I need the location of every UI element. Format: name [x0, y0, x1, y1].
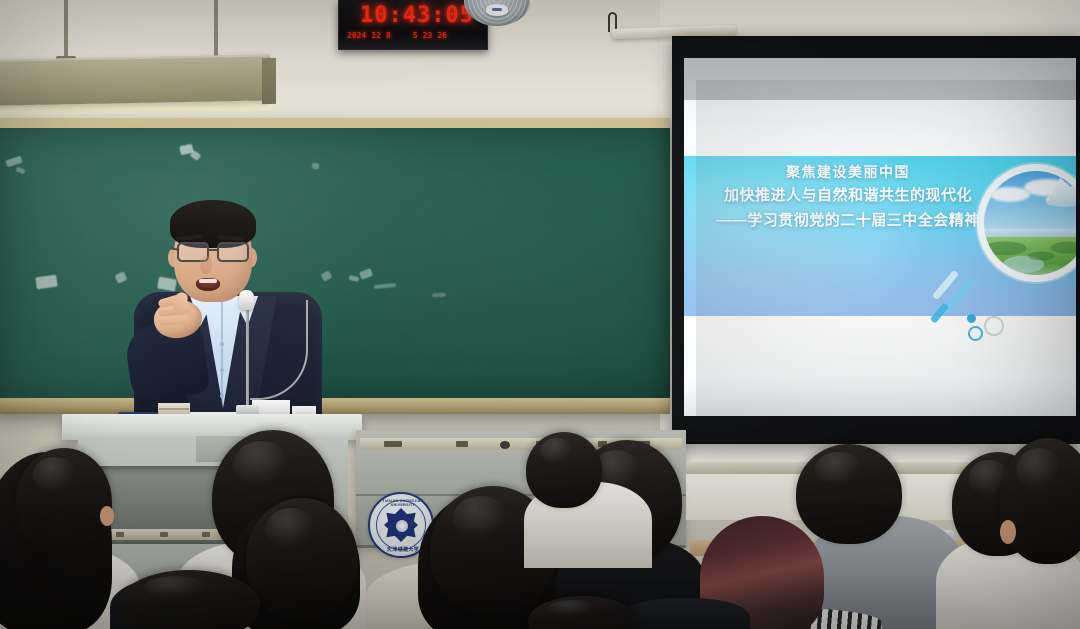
chalk-mark — [374, 283, 396, 289]
blackboard — [0, 128, 670, 400]
clock-day: 8 — [386, 31, 391, 40]
chalk-mark — [359, 268, 373, 280]
clock-year: 2024 — [347, 31, 366, 40]
blackboard-chalk-tray — [0, 398, 670, 414]
ceiling-valance-panel — [0, 54, 270, 105]
slide-decor-dot — [967, 314, 976, 323]
valance-hanger-rod-left — [64, 0, 68, 60]
list-item — [246, 498, 358, 620]
list-item — [1000, 438, 1080, 564]
wall-mounted-fan — [464, 0, 530, 30]
slide-nature-photo-circle — [984, 171, 1076, 275]
slide-decor-ring — [968, 326, 983, 341]
audience-body — [620, 598, 750, 629]
clock-time-display: 10:43:05 — [353, 3, 481, 27]
shirt-button — [220, 342, 224, 346]
cabinet-fitting — [456, 441, 468, 447]
slide-bottom-margin — [684, 316, 1076, 416]
slide-line-3: ——学习贯彻党的二十届三中全会精神 — [698, 210, 998, 232]
chalk-mark — [312, 163, 320, 170]
list-item — [796, 444, 902, 544]
chalk-mark — [115, 271, 128, 283]
slide-title-text: 聚焦建设美丽中国 加快推进人与自然和谐共生的现代化 ——学习贯彻党的二十届三中全… — [698, 162, 998, 232]
fan-hub — [486, 4, 508, 16]
ceiling-valance-end-cap — [262, 58, 276, 104]
cabinet-knob — [500, 441, 510, 449]
shirt-button — [220, 394, 224, 398]
lecture-hall-photo: 10:43:05 2024 12 8 5 23 26 — [0, 0, 1080, 629]
clock-date-display: 2024 12 8 5 23 26 — [347, 29, 483, 41]
glasses-bridge — [209, 249, 219, 251]
glasses-temple — [170, 247, 179, 250]
clock-temp: 23 — [423, 31, 433, 40]
projection-screen-surface: 聚焦建设美丽中国 加快推进人与自然和谐共生的现代化 ——学习贯彻党的二十届三中全… — [684, 58, 1076, 416]
glasses-lens — [217, 242, 249, 262]
shirt-button — [220, 368, 224, 372]
chalk-mark — [349, 275, 360, 282]
microphone-base — [236, 405, 259, 414]
clock-humidity: 26 — [437, 31, 447, 40]
slide-decor-ring — [984, 316, 1004, 336]
rail-fitting — [202, 532, 210, 537]
audience-ear — [1000, 520, 1016, 544]
chalk-mark — [15, 166, 25, 174]
valance-hanger-rod-right — [214, 0, 218, 62]
clock-month: 12 — [371, 31, 381, 40]
cabinet-fitting — [384, 441, 402, 447]
list-item — [16, 448, 112, 556]
audience-ear — [100, 506, 114, 526]
microphone-head — [239, 290, 254, 310]
rail-fitting — [116, 532, 124, 537]
presenter-mouth — [196, 278, 220, 291]
chalk-mark — [179, 144, 194, 156]
chalk-mark — [190, 150, 201, 161]
presenter — [128, 196, 328, 422]
slide-line-1: 聚焦建设美丽中国 — [698, 162, 998, 182]
emblem-center — [396, 520, 408, 532]
rail-fitting — [160, 532, 168, 537]
slide-line-2: 加快推进人与自然和谐共生的现代化 — [698, 185, 998, 207]
glasses-icon — [172, 242, 254, 264]
microphone-stand — [246, 300, 249, 408]
clock-weekday: 5 — [413, 31, 418, 40]
chalk-mark — [5, 156, 22, 168]
chalk-mark — [432, 293, 446, 298]
photo-wetland — [984, 237, 1076, 275]
presenter-hair — [170, 200, 256, 248]
emblem-text-english: TIANJIN CHENGJIAN UNIVERSITY — [370, 499, 436, 507]
presenter-nose — [200, 256, 212, 274]
chalk-mark — [35, 275, 57, 290]
list-item — [526, 432, 602, 508]
presenter-finger — [159, 315, 189, 325]
slide-top-margin — [684, 100, 1076, 156]
projection-screen: 聚焦建设美丽中国 加快推进人与自然和谐共生的现代化 ——学习贯彻党的二十届三中全… — [672, 36, 1080, 444]
